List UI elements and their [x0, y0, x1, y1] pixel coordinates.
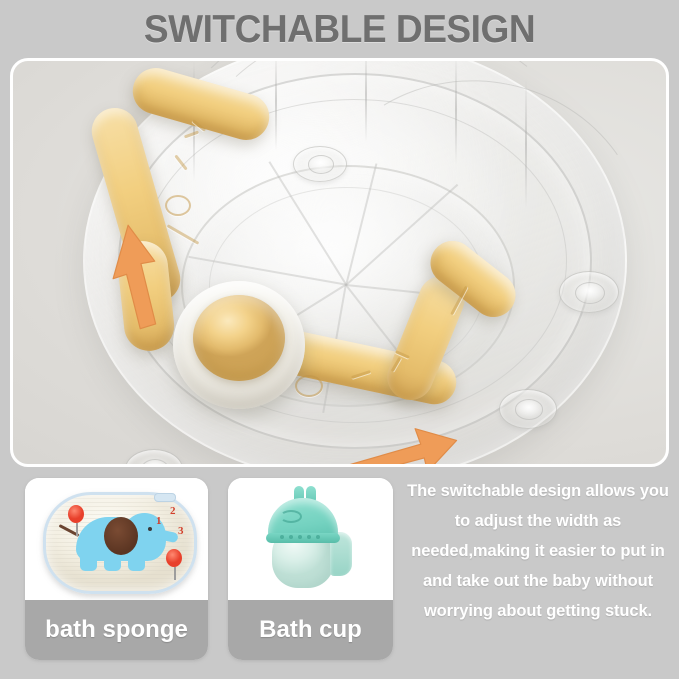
- bath-sponge-label: bath sponge: [25, 600, 208, 660]
- sponge-hanging-loop: [154, 493, 176, 502]
- product-infographic: SWITCHABLE DESIGN: [0, 0, 679, 679]
- cup-vent-hole: [316, 535, 320, 539]
- cup-vent-hole: [307, 535, 311, 539]
- bath-cup-art: [262, 488, 350, 592]
- elephant-leg: [104, 555, 121, 571]
- cup-face-decal: [280, 510, 302, 523]
- suction-cup: [559, 271, 619, 313]
- bath-sponge-image: 1 2 3: [25, 478, 208, 600]
- hero-photo-card: [10, 58, 669, 467]
- suction-cup: [499, 389, 557, 429]
- bath-cup-label: Bath cup: [228, 600, 393, 660]
- elephant-leg: [80, 555, 97, 571]
- cup-cap-lip: [266, 533, 340, 543]
- sponge-number: 1: [156, 515, 162, 527]
- elephant-ear: [104, 517, 138, 555]
- sponge-number: 2: [170, 505, 176, 517]
- baby-bath-seat-photo: [13, 61, 666, 464]
- balloon-left: [68, 505, 84, 523]
- suction-cup: [293, 146, 347, 182]
- arrow-right-icon: [329, 417, 459, 467]
- product-card-bath-sponge[interactable]: 1 2 3 bath sponge: [25, 478, 208, 660]
- handle-mark-o: [165, 195, 191, 216]
- handle-mark-o-lower: [295, 375, 323, 397]
- bath-cup-image: [228, 478, 393, 600]
- sponge-number: 3: [178, 525, 184, 537]
- page-title: SWITCHABLE DESIGN: [17, 8, 662, 52]
- handle-pivot-button[interactable]: [193, 295, 285, 381]
- cup-vent-hole: [280, 535, 284, 539]
- cup-vent-hole: [298, 535, 302, 539]
- description-text: The switchable design allows you to adju…: [404, 476, 672, 626]
- arrow-up-left-icon: [107, 221, 161, 331]
- suction-cup: [125, 449, 183, 467]
- balloon-right: [166, 549, 182, 567]
- elephant-sponge-art: 1 2 3: [43, 492, 197, 594]
- cup-vent-hole: [289, 535, 293, 539]
- product-card-bath-cup[interactable]: Bath cup: [228, 478, 393, 660]
- elephant-eye: [148, 527, 152, 531]
